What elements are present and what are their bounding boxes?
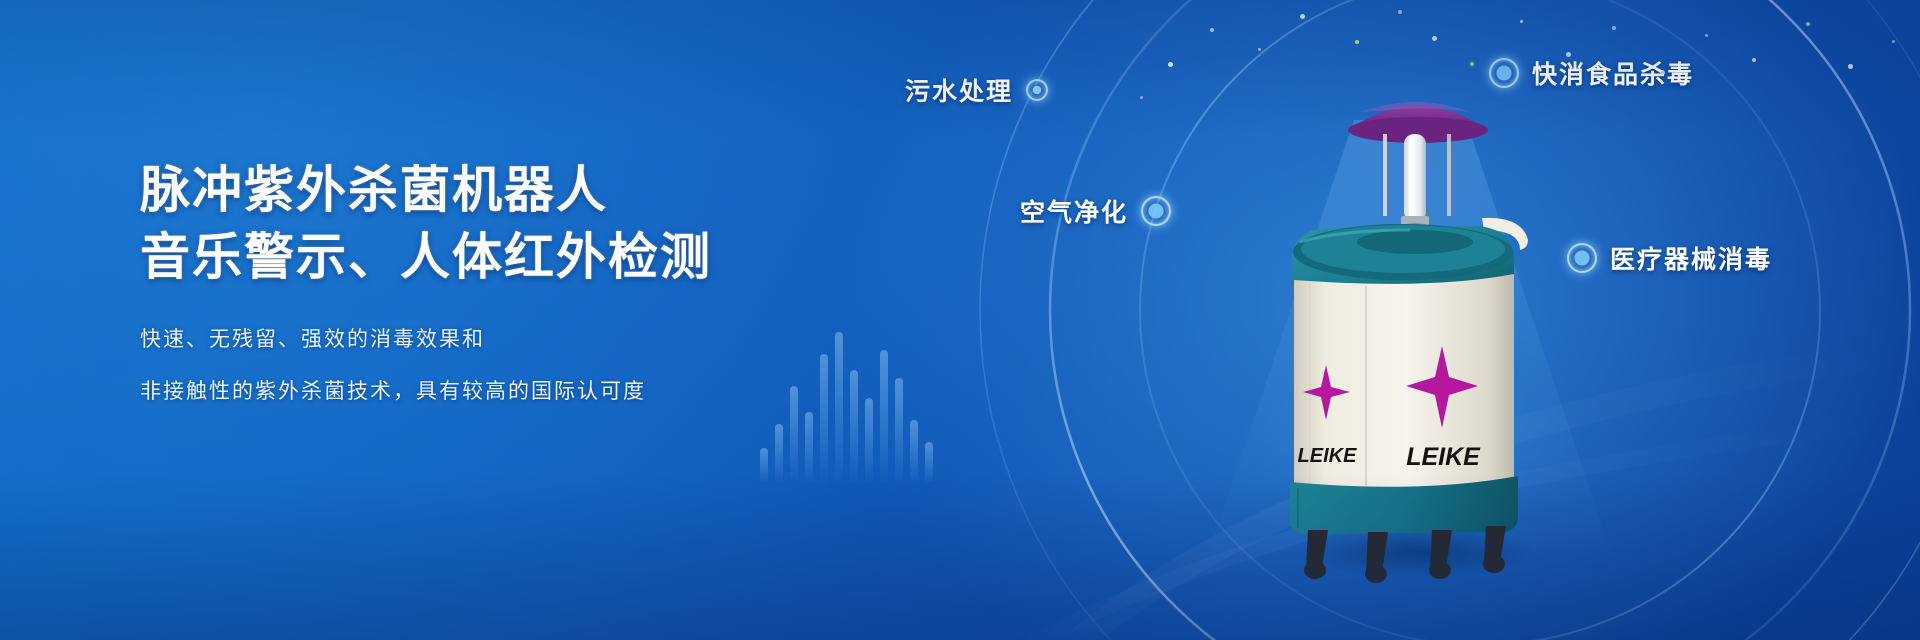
feature-label: 污水处理 xyxy=(905,72,1013,108)
subtitle-line-1: 快速、无残留、强效的消毒效果和 xyxy=(140,326,860,353)
feature-callout-air[interactable]: 空气净化 xyxy=(1020,193,1171,229)
subtitle-line-2: 非接触性的紫外杀菌技术，具有较高的国际认可度 xyxy=(140,378,860,405)
promo-banner: 脉冲紫外杀菌机器人 音乐警示、人体红外检测 快速、无残留、强效的消毒效果和 非接… xyxy=(0,0,1920,640)
node-dot-icon xyxy=(1026,79,1048,101)
node-dot-icon xyxy=(1489,58,1519,88)
node-dot-icon xyxy=(1567,243,1597,273)
subtitle-block: 快速、无残留、强效的消毒效果和 非接触性的紫外杀菌技术，具有较高的国际认可度 xyxy=(140,326,860,405)
feature-label: 空气净化 xyxy=(1020,193,1128,229)
feature-label: 医疗器械消毒 xyxy=(1610,240,1772,276)
feature-callout-medical[interactable]: 医疗器械消毒 xyxy=(1567,240,1772,276)
feature-label: 快消食品杀毒 xyxy=(1532,55,1694,91)
brand-text-right: LEIKE xyxy=(1406,443,1481,471)
uv-disinfection-robot-illustration: LEIKE LEIKE xyxy=(1270,90,1560,590)
headline-line-1: 脉冲紫外杀菌机器人 xyxy=(140,160,860,221)
banner-copy: 脉冲紫外杀菌机器人 音乐警示、人体红外检测 快速、无残留、强效的消毒效果和 非接… xyxy=(140,160,860,405)
feature-callout-food[interactable]: 快消食品杀毒 xyxy=(1489,55,1694,91)
headline-line-2: 音乐警示、人体红外检测 xyxy=(140,227,860,288)
brand-text-left: LEIKE xyxy=(1298,445,1358,467)
feature-callout-wastewater[interactable]: 污水处理 xyxy=(905,72,1048,108)
node-dot-icon xyxy=(1141,196,1171,226)
